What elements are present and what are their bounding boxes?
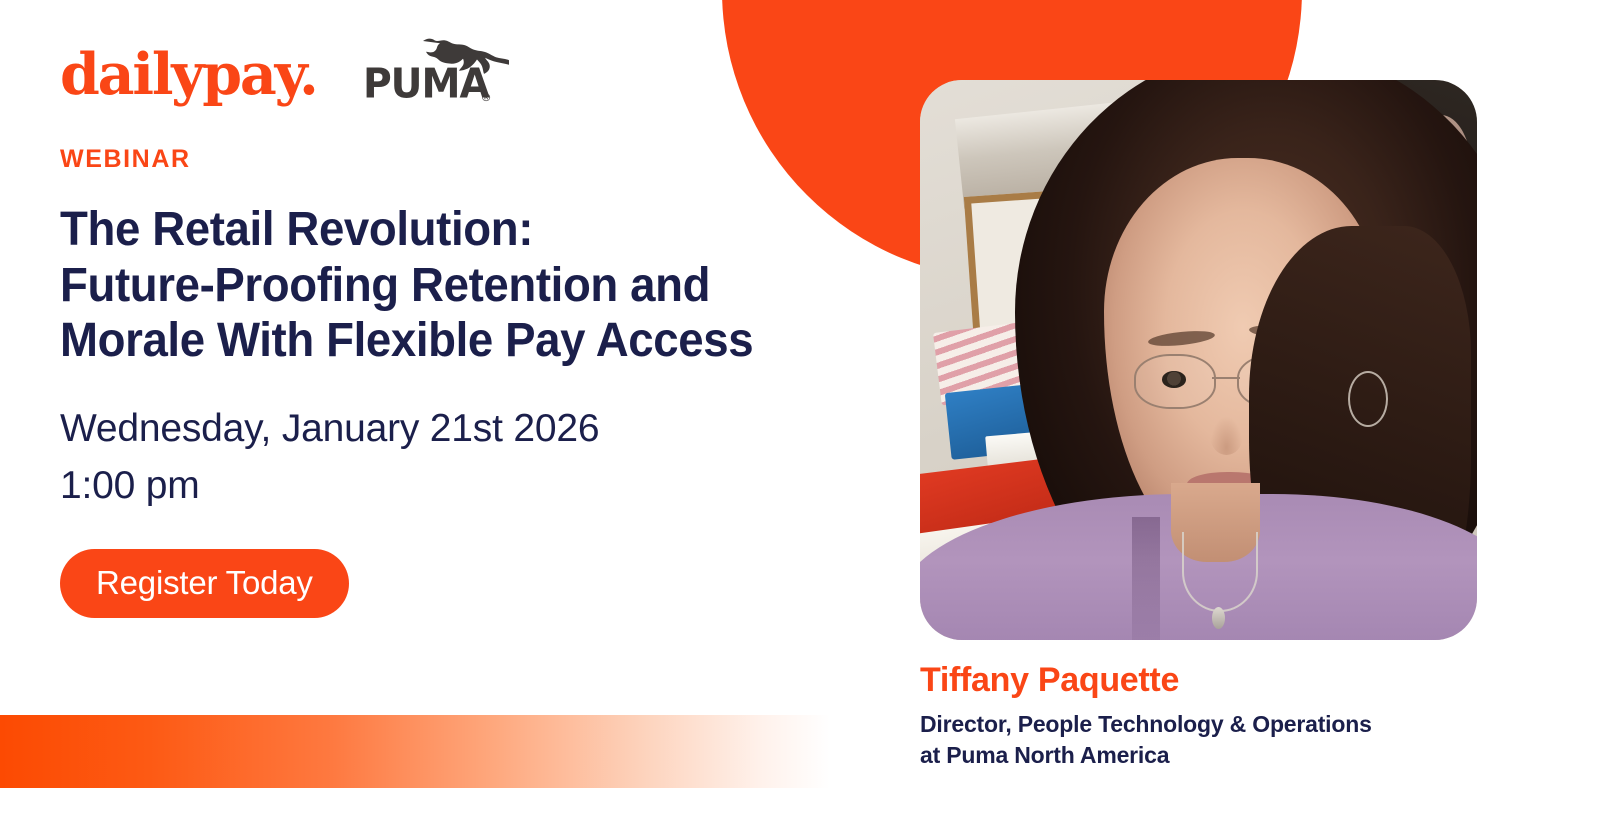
photo-eye-left (1162, 371, 1185, 388)
speaker-role: Director, People Technology & Operations… (920, 709, 1540, 770)
webinar-promo-banner: dailypay. PUMA ® WEBINAR The Retail Revo… (0, 0, 1600, 837)
photo-glasses-bridge (1212, 377, 1240, 379)
footer-gradient-bar (0, 715, 830, 788)
schedule-time: 1:00 pm (60, 458, 890, 515)
speaker-name: Tiffany Paquette (920, 662, 1540, 699)
speaker-photo-image (920, 80, 1477, 640)
puma-wordmark: PUMA (363, 63, 489, 104)
speaker-role-line-2: at Puma North America (920, 740, 1540, 771)
dailypay-logo: dailypay. (60, 46, 317, 103)
schedule-block: Wednesday, January 21st 2026 1:00 pm (60, 401, 890, 514)
schedule-date: Wednesday, January 21st 2026 (60, 401, 890, 458)
photo-hoop-earring (1348, 371, 1388, 427)
puma-registered-icon: ® (481, 91, 492, 104)
photo-necklace (1182, 532, 1258, 612)
headline-line-3: Morale With Flexible Pay Access (60, 313, 849, 369)
puma-logo: PUMA ® (363, 38, 511, 110)
page-title: The Retail Revolution: Future-Proofing R… (60, 202, 849, 369)
eyebrow-label: WEBINAR (60, 147, 890, 172)
photo-nose (1210, 416, 1243, 455)
logo-row: dailypay. PUMA ® (60, 0, 890, 110)
speaker-details: Tiffany Paquette Director, People Techno… (920, 662, 1540, 771)
headline-line-1: The Retail Revolution: (60, 202, 849, 258)
speaker-photo (920, 80, 1477, 640)
speaker-role-line-1: Director, People Technology & Operations (920, 709, 1540, 740)
register-today-button[interactable]: Register Today (60, 549, 349, 618)
headline-line-2: Future-Proofing Retention and (60, 258, 849, 314)
left-content-column: dailypay. PUMA ® WEBINAR The Retail Revo… (60, 0, 890, 618)
photo-shirt-fold (1132, 517, 1160, 640)
